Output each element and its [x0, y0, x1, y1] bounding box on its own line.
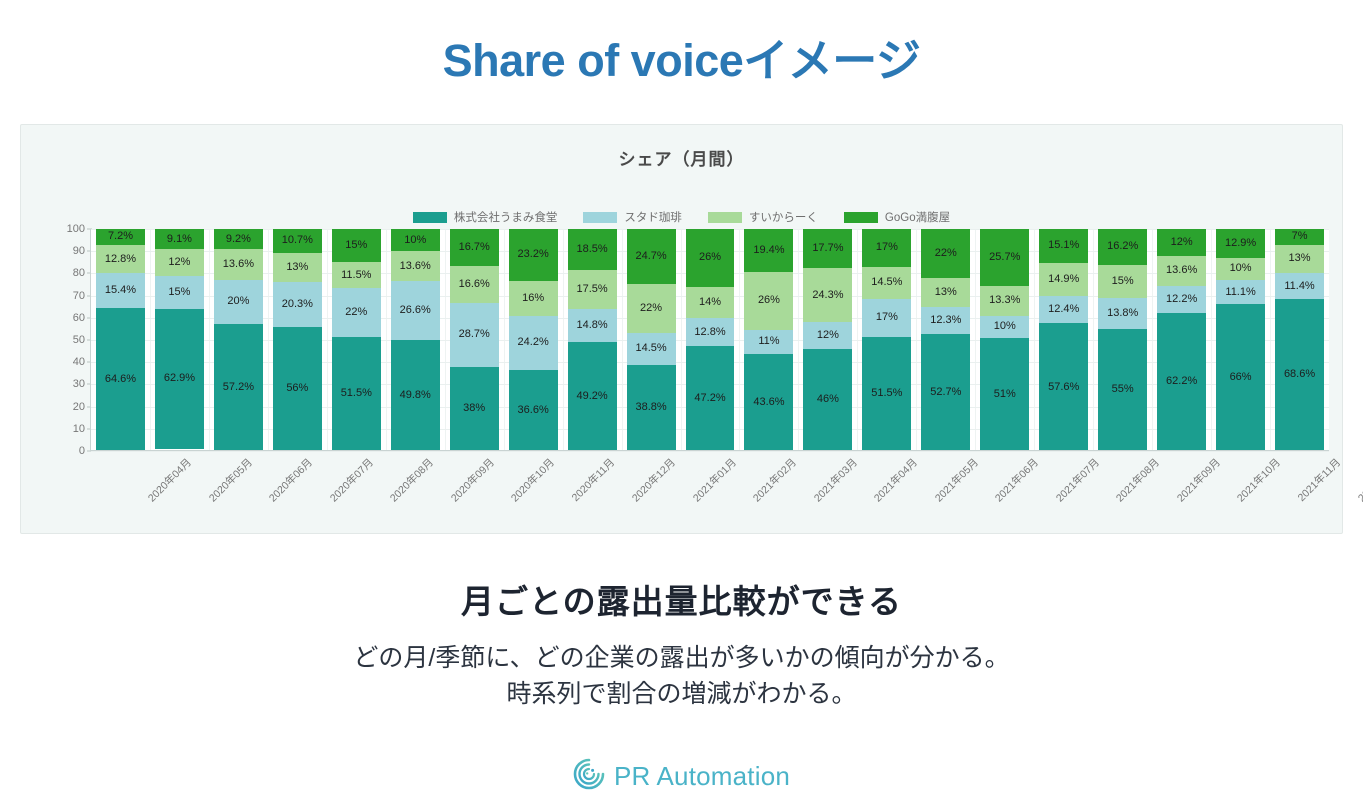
- x-axis-tick-label: 2021年09月: [1173, 455, 1223, 505]
- bar-column[interactable]: 19.4%26%11%43.6%: [739, 229, 798, 451]
- y-axis-tick-label: 50: [73, 334, 85, 346]
- bar-stack: 26%14%12.8%47.2%: [686, 229, 735, 451]
- bar-column[interactable]: 17.7%24.3%12%46%: [798, 229, 857, 451]
- spiral-swirl-icon: [573, 758, 605, 795]
- bar-stack: 7%13%11.4%68.6%: [1275, 229, 1324, 451]
- bar-segment[interactable]: 57.2%: [214, 324, 263, 451]
- bar-segment[interactable]: 13.8%: [1098, 298, 1147, 329]
- y-axis-tick-label: 30: [73, 378, 85, 390]
- x-axis-tick-label: 2021年02月: [750, 455, 800, 505]
- bar-segment[interactable]: 68.6%: [1275, 299, 1324, 451]
- bar-segment[interactable]: 51.5%: [332, 337, 381, 451]
- bar-segment[interactable]: 14.5%: [862, 267, 911, 299]
- bar-group: 7.2%12.8%15.4%64.6%9.1%12%15%62.9%9.2%13…: [91, 229, 1329, 451]
- x-axis-line: [91, 450, 1329, 451]
- sub-copy-line-1: どの月/季節に、どの企業の露出が多いかの傾向が分かる。: [0, 640, 1363, 676]
- bar-column[interactable]: 15%11.5%22%51.5%: [327, 229, 386, 451]
- bar-segment[interactable]: 11.1%: [1216, 280, 1265, 305]
- bar-column[interactable]: 22%13%12.3%52.7%: [916, 229, 975, 451]
- bar-stack: 19.4%26%11%43.6%: [744, 229, 793, 451]
- x-axis-tick-label: 2020年12月: [629, 455, 679, 505]
- bar-segment[interactable]: 15.4%: [96, 273, 145, 307]
- y-axis-tick-label: 40: [73, 356, 85, 368]
- bar-segment[interactable]: 13.6%: [1157, 256, 1206, 286]
- bar-segment[interactable]: 62.9%: [155, 309, 204, 449]
- bar-segment[interactable]: 14.9%: [1039, 263, 1088, 296]
- x-axis-tick-label: 2021年10月: [1233, 455, 1283, 505]
- bar-column[interactable]: 17%14.5%17%51.5%: [857, 229, 916, 451]
- y-axis-tick-label: 10: [73, 423, 85, 435]
- bar-segment[interactable]: 13.6%: [391, 251, 440, 281]
- bar-segment[interactable]: 15.1%: [1039, 229, 1088, 263]
- bar-segment[interactable]: 24.2%: [509, 316, 558, 370]
- x-axis-tick-label: 2021年12月: [1354, 455, 1363, 505]
- chart-title: シェア（月間）: [21, 145, 1342, 170]
- bar-segment[interactable]: 9.2%: [214, 229, 263, 249]
- bar-segment[interactable]: 56%: [273, 327, 322, 451]
- bar-segment[interactable]: 14.8%: [568, 309, 617, 342]
- bar-segment[interactable]: 20.3%: [273, 282, 322, 327]
- bar-segment[interactable]: 52.7%: [921, 334, 970, 451]
- bar-segment[interactable]: 17.5%: [568, 270, 617, 309]
- x-axis-tick-label: 2020年04月: [145, 455, 195, 505]
- x-axis-tick-label: 2020年07月: [326, 455, 376, 505]
- bar-segment[interactable]: 10%: [391, 229, 440, 251]
- logo-text: PR Automation: [614, 761, 790, 792]
- bar-column[interactable]: 16.7%16.6%28.7%38%: [445, 229, 504, 451]
- bar-segment[interactable]: 20%: [214, 280, 263, 324]
- bar-stack: 12.9%10%11.1%66%: [1216, 229, 1265, 451]
- plot-area: 7.2%12.8%15.4%64.6%9.1%12%15%62.9%9.2%13…: [91, 229, 1329, 451]
- legend-label: すいからーく: [749, 209, 818, 225]
- x-axis-tick-label: 2021年11月: [1294, 455, 1344, 505]
- bar-segment[interactable]: 22%: [627, 284, 676, 333]
- bar-stack: 10%13.6%26.6%49.8%: [391, 229, 440, 451]
- bar-column[interactable]: 12%13.6%12.2%62.2%: [1152, 229, 1211, 451]
- bar-column[interactable]: 26%14%12.8%47.2%: [681, 229, 740, 451]
- x-axis-tick-label: 2020年06月: [266, 455, 316, 505]
- bar-segment[interactable]: 25.7%: [980, 229, 1029, 286]
- bar-segment[interactable]: 12.3%: [921, 307, 970, 334]
- bar-stack: 15%11.5%22%51.5%: [332, 229, 381, 451]
- bar-segment[interactable]: 43.6%: [744, 354, 793, 451]
- bar-segment[interactable]: 13%: [273, 253, 322, 282]
- bar-segment[interactable]: 12.9%: [1216, 229, 1265, 258]
- bar-stack: 9.2%13.6%20%57.2%: [214, 229, 263, 451]
- bar-segment[interactable]: 57.6%: [1039, 323, 1088, 451]
- chart-card: シェア（月間） 株式会社うまみ食堂スタド珈琲すいからーくGoGo満腹屋 0102…: [20, 124, 1343, 534]
- bar-segment[interactable]: 47.2%: [686, 346, 735, 451]
- bar-stack: 7.2%12.8%15.4%64.6%: [96, 229, 145, 451]
- bar-segment[interactable]: 14%: [686, 287, 735, 318]
- bar-segment[interactable]: 12%: [155, 249, 204, 276]
- y-axis: 0102030405060708090100: [59, 229, 89, 451]
- bar-segment[interactable]: 13.3%: [980, 286, 1029, 316]
- bar-segment[interactable]: 49.2%: [568, 342, 617, 451]
- bar-segment[interactable]: 11.5%: [332, 262, 381, 288]
- bar-column[interactable]: 18.5%17.5%14.8%49.2%: [563, 229, 622, 451]
- legend-swatch: [583, 212, 617, 223]
- bar-stack: 17%14.5%17%51.5%: [862, 229, 911, 451]
- x-axis-tick-label: 2020年10月: [508, 455, 558, 505]
- slide-root: Share of voiceイメージ シェア（月間） 株式会社うまみ食堂スタド珈…: [0, 0, 1363, 805]
- sub-heading: 月ごとの露出量比較ができる: [0, 575, 1363, 623]
- legend-swatch: [844, 212, 878, 223]
- x-axis-tick-label: 2021年04月: [871, 455, 921, 505]
- bar-column[interactable]: 24.7%22%14.5%38.8%: [622, 229, 681, 451]
- bar-segment[interactable]: 11.4%: [1275, 273, 1324, 298]
- bar-column[interactable]: 9.1%12%15%62.9%: [150, 229, 209, 451]
- bar-segment[interactable]: 49.8%: [391, 340, 440, 451]
- bar-stack: 22%13%12.3%52.7%: [921, 229, 970, 451]
- bar-segment[interactable]: 16.2%: [1098, 229, 1147, 265]
- bar-column[interactable]: 25.7%13.3%10%51%: [975, 229, 1034, 451]
- bar-segment[interactable]: 46%: [803, 349, 852, 451]
- bar-segment[interactable]: 7.2%: [96, 229, 145, 245]
- legend-label: GoGo満腹屋: [885, 209, 950, 225]
- x-axis-tick-label: 2021年07月: [1052, 455, 1102, 505]
- legend-label: スタド珈琲: [624, 209, 682, 225]
- bar-segment[interactable]: 11%: [744, 330, 793, 354]
- bar-segment[interactable]: 24.7%: [627, 229, 676, 284]
- bar-segment[interactable]: 12.4%: [1039, 296, 1088, 324]
- gridline: [91, 451, 1329, 452]
- bar-segment[interactable]: 26.6%: [391, 281, 440, 340]
- bar-stack: 9.1%12%15%62.9%: [155, 229, 204, 451]
- x-axis-labels: 2020年04月2020年05月2020年06月2020年07月2020年08月…: [91, 455, 1361, 525]
- bar-column[interactable]: 23.2%16%24.2%36.6%: [504, 229, 563, 451]
- chart-legend: 株式会社うまみ食堂スタド珈琲すいからーくGoGo満腹屋: [21, 209, 1342, 225]
- bar-segment[interactable]: 51%: [980, 338, 1029, 451]
- bar-segment[interactable]: 12%: [803, 322, 852, 349]
- bar-stack: 24.7%22%14.5%38.8%: [627, 229, 676, 451]
- legend-item[interactable]: GoGo満腹屋: [844, 209, 950, 225]
- bar-segment[interactable]: 9.1%: [155, 229, 204, 249]
- x-axis-tick-label: 2020年11月: [568, 455, 618, 505]
- bar-column[interactable]: 10%13.6%26.6%49.8%: [386, 229, 445, 451]
- x-axis-tick-label: 2021年01月: [689, 455, 739, 505]
- sub-copy-line-2: 時系列で割合の増減がわかる。: [0, 676, 1363, 712]
- plot-region: 0102030405060708090100 7.2%12.8%15.4%64.…: [59, 229, 1329, 451]
- x-axis-tick-label: 2020年09月: [447, 455, 497, 505]
- bar-stack: 10.7%13%20.3%56%: [273, 229, 322, 451]
- legend-swatch: [708, 212, 742, 223]
- bar-segment[interactable]: 17%: [862, 229, 911, 267]
- bar-segment[interactable]: 15%: [332, 229, 381, 262]
- bar-segment[interactable]: 16%: [509, 281, 558, 317]
- bar-segment[interactable]: 38.8%: [627, 365, 676, 451]
- bar-segment[interactable]: 13%: [921, 278, 970, 307]
- bar-segment[interactable]: 13%: [1275, 245, 1324, 274]
- bar-segment[interactable]: 38%: [450, 367, 499, 451]
- bar-segment[interactable]: 10%: [980, 316, 1029, 338]
- bar-segment[interactable]: 12%: [1157, 229, 1206, 256]
- bar-segment[interactable]: 26%: [744, 272, 793, 330]
- bar-segment[interactable]: 14.5%: [627, 333, 676, 365]
- bar-stack: 23.2%16%24.2%36.6%: [509, 229, 558, 451]
- bar-segment[interactable]: 66%: [1216, 304, 1265, 451]
- bar-segment[interactable]: 17%: [862, 299, 911, 337]
- legend-label: 株式会社うまみ食堂: [454, 209, 558, 225]
- x-axis-tick-label: 2020年08月: [387, 455, 437, 505]
- bar-column[interactable]: 7.2%12.8%15.4%64.6%: [91, 229, 150, 451]
- y-axis-tick-label: 20: [73, 401, 85, 413]
- y-axis-tick-label: 70: [73, 290, 85, 302]
- bar-segment[interactable]: 15%: [1098, 265, 1147, 298]
- x-axis-tick-label: 2020年05月: [205, 455, 255, 505]
- sub-copy: どの月/季節に、どの企業の露出が多いかの傾向が分かる。 時系列で割合の増減がわか…: [0, 640, 1363, 713]
- bar-column[interactable]: 16.2%15%13.8%55%: [1093, 229, 1152, 451]
- bar-column[interactable]: 10.7%13%20.3%56%: [268, 229, 327, 451]
- bar-segment[interactable]: 36.6%: [509, 370, 558, 451]
- y-axis-tick-label: 80: [73, 267, 85, 279]
- bar-segment[interactable]: 12.8%: [96, 245, 145, 273]
- bar-stack: 15.1%14.9%12.4%57.6%: [1039, 229, 1088, 451]
- bar-stack: 17.7%24.3%12%46%: [803, 229, 852, 451]
- bar-segment[interactable]: 12.2%: [1157, 286, 1206, 313]
- y-axis-tick-label: 60: [73, 312, 85, 324]
- bar-segment[interactable]: 12.8%: [686, 318, 735, 346]
- legend-item[interactable]: すいからーく: [708, 209, 818, 225]
- x-axis-tick-label: 2021年08月: [1113, 455, 1163, 505]
- bar-segment[interactable]: 15%: [155, 276, 204, 309]
- y-axis-tick-label: 90: [73, 245, 85, 257]
- bar-column[interactable]: 9.2%13.6%20%57.2%: [209, 229, 268, 451]
- x-axis-tick-label: 2021年03月: [810, 455, 860, 505]
- bar-segment[interactable]: 16.7%: [450, 229, 499, 266]
- page-title: Share of voiceイメージ: [0, 36, 1363, 86]
- bar-stack: 18.5%17.5%14.8%49.2%: [568, 229, 617, 451]
- bar-segment[interactable]: 26%: [686, 229, 735, 287]
- x-axis-tick-label: 2021年05月: [931, 455, 981, 505]
- bar-segment[interactable]: 23.2%: [509, 229, 558, 281]
- y-axis-tick-label: 0: [79, 445, 85, 457]
- bar-segment[interactable]: 18.5%: [568, 229, 617, 270]
- bar-segment[interactable]: 24.3%: [803, 268, 852, 322]
- bar-segment[interactable]: 64.6%: [96, 308, 145, 451]
- bar-segment[interactable]: 17.7%: [803, 229, 852, 268]
- legend-item[interactable]: 株式会社うまみ食堂: [413, 209, 558, 225]
- bar-column[interactable]: 12.9%10%11.1%66%: [1211, 229, 1270, 451]
- bar-stack: 25.7%13.3%10%51%: [980, 229, 1029, 451]
- legend-item[interactable]: スタド珈琲: [583, 209, 682, 225]
- bar-segment[interactable]: 22%: [921, 229, 970, 278]
- bar-segment[interactable]: 13.6%: [214, 249, 263, 279]
- bar-segment[interactable]: 19.4%: [744, 229, 793, 272]
- bar-segment[interactable]: 7%: [1275, 229, 1324, 245]
- brand-logo: PR Automation: [0, 758, 1363, 795]
- x-axis-tick-label: 2021年06月: [992, 455, 1042, 505]
- bar-segment[interactable]: 10%: [1216, 258, 1265, 280]
- bar-segment[interactable]: 10.7%: [273, 229, 322, 253]
- legend-swatch: [413, 212, 447, 223]
- bar-column[interactable]: 7%13%11.4%68.6%: [1270, 229, 1329, 451]
- bar-segment[interactable]: 51.5%: [862, 337, 911, 451]
- bar-segment[interactable]: 55%: [1098, 329, 1147, 451]
- bar-stack: 12%13.6%12.2%62.2%: [1157, 229, 1206, 451]
- bar-segment[interactable]: 22%: [332, 288, 381, 337]
- bar-segment[interactable]: 62.2%: [1157, 313, 1206, 451]
- bar-segment[interactable]: 28.7%: [450, 303, 499, 367]
- bar-column[interactable]: 15.1%14.9%12.4%57.6%: [1034, 229, 1093, 451]
- bar-stack: 16.2%15%13.8%55%: [1098, 229, 1147, 451]
- y-axis-tick-label: 100: [67, 223, 85, 235]
- bar-stack: 16.7%16.6%28.7%38%: [450, 229, 499, 451]
- bar-segment[interactable]: 16.6%: [450, 266, 499, 303]
